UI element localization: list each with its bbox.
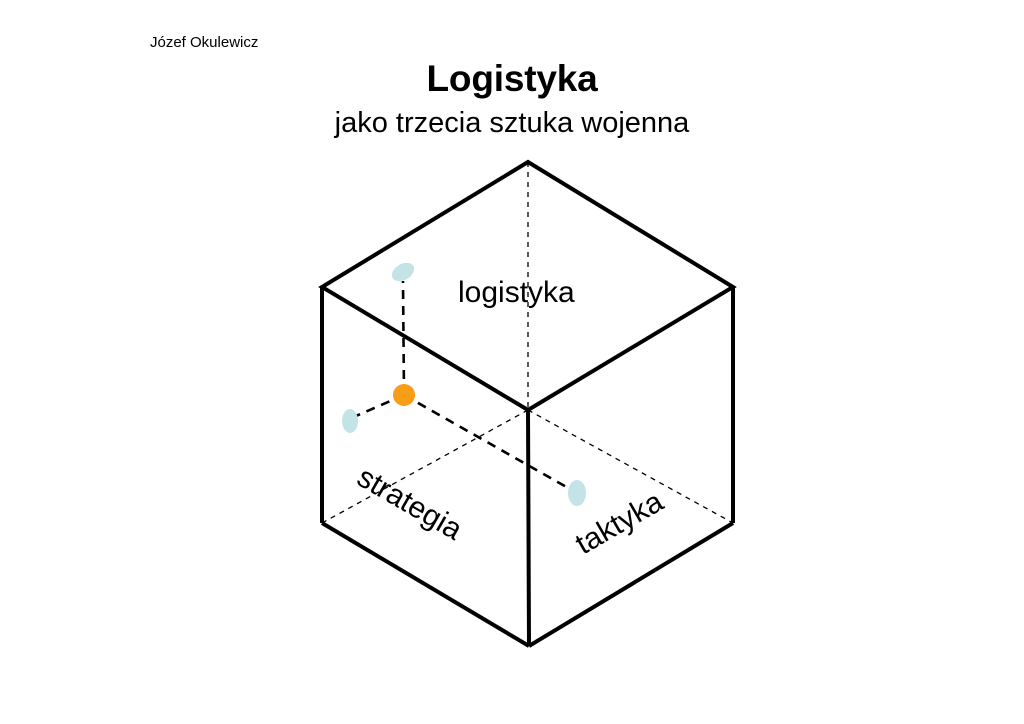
cube-edge-bottom-right — [529, 523, 733, 646]
cube-diagram: logistyka strategia taktyka — [0, 0, 1024, 724]
cube-diagram-svg: logistyka strategia taktyka — [0, 0, 1024, 724]
slide-canvas: Józef Okulewicz Logistyka jako trzecia s… — [0, 0, 1024, 724]
node-connectors — [356, 281, 570, 489]
cube-edge-bottom-left — [322, 523, 529, 646]
taktyka-marker-icon — [568, 480, 586, 506]
strategia-marker-icon — [342, 409, 358, 433]
connector-to-logistyka — [403, 281, 404, 395]
cube-edge-center — [528, 410, 529, 646]
origin-node-icon — [393, 384, 415, 406]
label-logistyka: logistyka — [458, 276, 575, 309]
label-strategia: strategia — [352, 460, 468, 546]
connector-to-taktyka — [404, 395, 570, 489]
